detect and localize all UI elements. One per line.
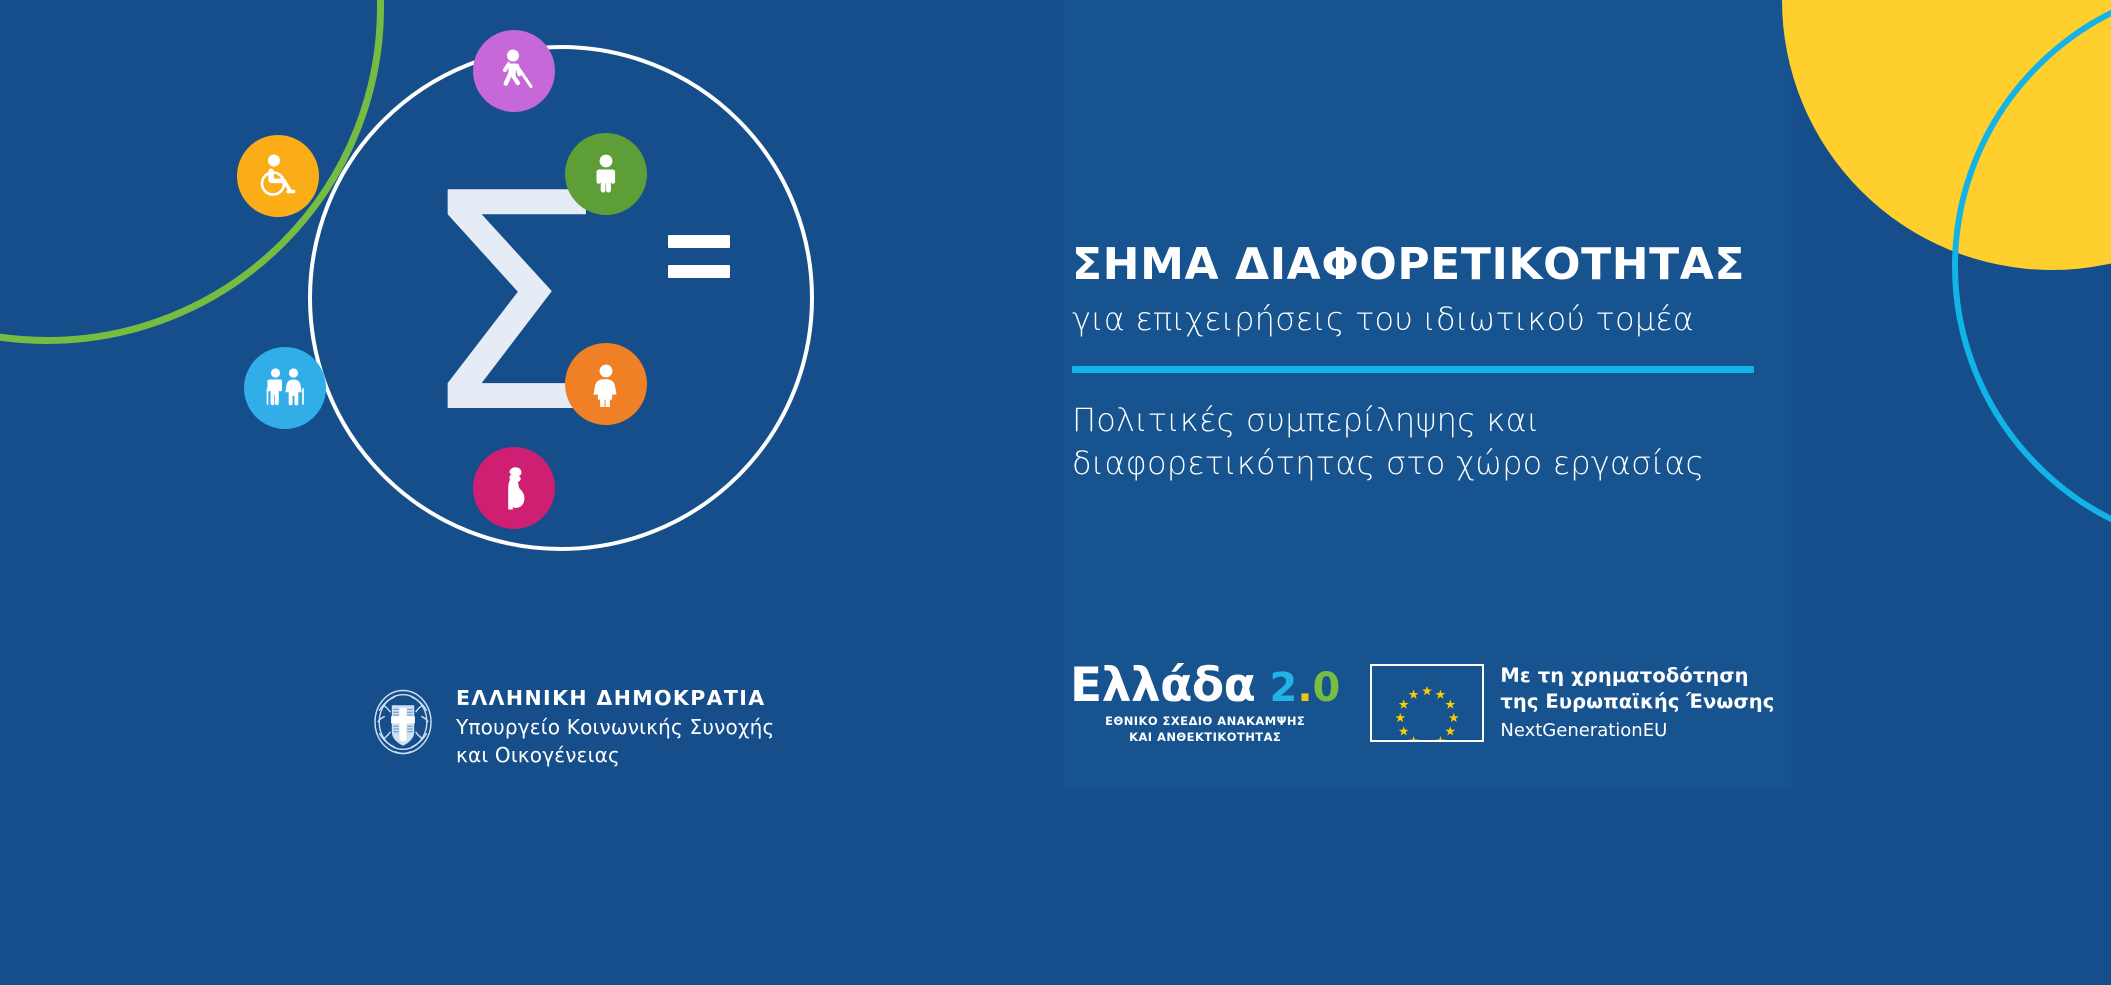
greece-2-0-subtitle: ΕΘΝΙΚΟ ΣΧΕΔΙΟ ΑΝΑΚΑΜΨΗΣ ΚΑΙ ΑΝΘΕΚΤΙΚΟΤΗΤ… — [1105, 714, 1305, 746]
tagline-line-1: Πολιτικές συμπερίληψης και — [1072, 399, 1772, 442]
ministry-lockup: ΕΛΛΗΝΙΚΗ ΔΗΜΟΚΡΑΤΙΑ Υπουργείο Κοινωνικής… — [368, 685, 775, 769]
eu-funding-line-1: Με τη χρηματοδότηση — [1500, 663, 1774, 689]
version-digit-two: 2 — [1269, 665, 1297, 711]
decorative-cyan-arc — [1952, 0, 2111, 552]
pregnant-woman-icon — [491, 465, 537, 511]
woman-icon — [583, 361, 629, 407]
greece-2-0-subtitle-line-1: ΕΘΝΙΚΟ ΣΧΕΔΙΟ ΑΝΑΚΑΜΨΗΣ — [1105, 714, 1305, 730]
copy-block: ΣΗΜΑ ΔΙΑΦΟΡΕΤΙΚΟΤΗΤΑΣ για επιχειρήσεις τ… — [1072, 240, 1772, 485]
cyan-divider — [1072, 366, 1754, 373]
headline: ΣΗΜΑ ΔΙΑΦΟΡΕΤΙΚΟΤΗΤΑΣ — [1072, 240, 1772, 289]
wheelchair-icon — [253, 151, 303, 201]
greece-2-0-version: 2.0 — [1269, 668, 1340, 708]
version-digit-zero: 0 — [1313, 665, 1341, 711]
banner-root: Σ — [0, 0, 2111, 985]
greece-2-0-wordmark: Ελλάδα 2.0 — [1070, 662, 1340, 709]
icon-node-pregnant-woman — [473, 447, 555, 529]
icon-node-woman — [565, 343, 647, 425]
man-icon — [583, 151, 629, 197]
version-dot: . — [1297, 665, 1312, 711]
icon-node-blind-person — [473, 30, 555, 112]
subheadline: για επιχειρήσεις του ιδιωτικού τομέα — [1072, 299, 1772, 340]
tagline-line-2: διαφορετικότητας στο χώρο εργασίας — [1072, 442, 1772, 485]
eu-funding-logo: Με τη χρηματοδότηση της Ευρωπαϊκής Ένωση… — [1370, 663, 1774, 743]
icon-node-elderly-couple — [244, 347, 326, 429]
funding-lockup: Ελλάδα 2.0 ΕΘΝΙΚΟ ΣΧΕΔΙΟ ΑΝΑΚΑΜΨΗΣ ΚΑΙ Α… — [1070, 660, 1774, 746]
ministry-subtitle-line-1: Υπουργείο Κοινωνικής Συνοχής — [456, 713, 775, 741]
greece-2-0-logo: Ελλάδα 2.0 ΕΘΝΙΚΟ ΣΧΕΔΙΟ ΑΝΑΚΑΜΨΗΣ ΚΑΙ Α… — [1070, 660, 1340, 746]
eu-funding-line-2: της Ευρωπαϊκής Ένωσης — [1500, 689, 1774, 715]
greece-2-0-subtitle-line-2: ΚΑΙ ΑΝΘΕΚΤΙΚΟΤΗΤΑΣ — [1105, 730, 1305, 746]
greece-2-0-word: Ελλάδα — [1070, 662, 1255, 709]
diversity-emblem: Σ — [288, 20, 848, 650]
equals-symbol — [668, 235, 730, 278]
greek-republic-crest — [368, 687, 438, 757]
icon-node-man — [565, 133, 647, 215]
ministry-text-block: ΕΛΛΗΝΙΚΗ ΔΗΜΟΚΡΑΤΙΑ Υπουργείο Κοινωνικής… — [456, 685, 775, 769]
european-union-flag — [1370, 664, 1484, 742]
blind-person-icon — [489, 46, 539, 96]
next-generation-eu-label: NextGenerationEU — [1500, 718, 1774, 743]
ministry-subtitle-line-2: και Οικογένειας — [456, 741, 775, 769]
ministry-title: ΕΛΛΗΝΙΚΗ ΔΗΜΟΚΡΑΤΙΑ — [456, 685, 775, 713]
eu-text-block: Με τη χρηματοδότηση της Ευρωπαϊκής Ένωση… — [1500, 663, 1774, 743]
elderly-couple-icon — [260, 363, 310, 413]
decorative-yellow-circle — [1782, 0, 2111, 270]
icon-node-wheelchair-user — [237, 135, 319, 217]
tagline: Πολιτικές συμπερίληψης και διαφορετικότη… — [1072, 399, 1772, 485]
